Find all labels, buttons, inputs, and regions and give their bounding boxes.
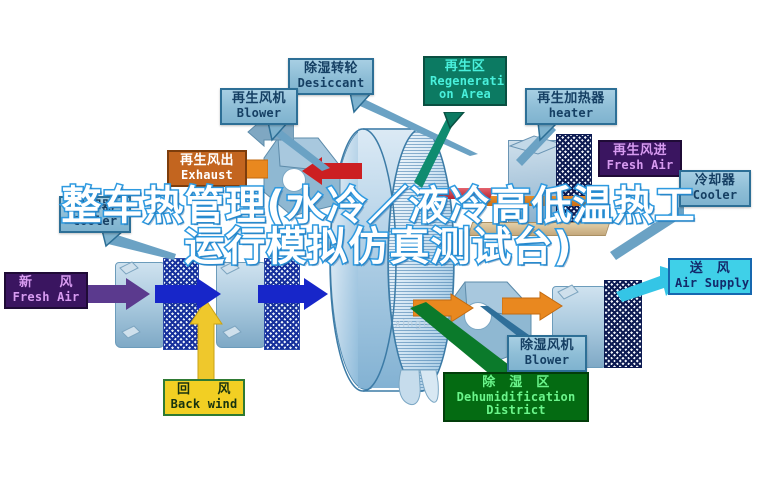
label-air-supply-en: Air Supply xyxy=(675,277,745,290)
label-regen-heater-tail xyxy=(534,122,562,142)
label-fresh-air-in[interactable]: 新 风 Fresh Air xyxy=(4,272,88,309)
label-fresh-air-in-en: Fresh Air xyxy=(11,291,81,304)
label-regen-fresh-in[interactable]: 再生风进 Fresh Air xyxy=(598,140,682,177)
label-back-wind[interactable]: 回 风 Back wind xyxy=(163,379,245,416)
label-dehum-district-cn: 除 湿 区 xyxy=(450,376,582,391)
label-regen-blower-tail xyxy=(266,122,294,142)
label-desiccant-rotor-en: Desiccant xyxy=(295,77,367,90)
label-regen-fresh-in-cn: 再生风进 xyxy=(605,144,675,159)
label-dehum-district-en1: Dehumidification xyxy=(450,391,582,404)
label-cooler-left[interactable]: 冷却器 Cooler xyxy=(59,196,131,233)
label-regen-area-en1: Regenerati xyxy=(430,75,500,88)
label-dehum-blower-en: Blower xyxy=(514,354,580,367)
label-regen-exhaust-cn: 再生风出 xyxy=(174,154,240,169)
label-dehum-blower-cn: 除湿风机 xyxy=(514,339,580,354)
label-regen-blower-cn: 再生风机 xyxy=(227,92,291,107)
label-regen-heater-en: heater xyxy=(532,107,610,120)
label-desiccant-rotor-tail xyxy=(348,92,378,114)
heater-base-plate xyxy=(468,222,611,236)
label-dehum-district[interactable]: 除 湿 区 Dehumidification District xyxy=(443,372,589,422)
label-regen-area-cn: 再生区 xyxy=(430,60,500,75)
label-regen-blower-en: Blower xyxy=(227,107,291,120)
label-back-wind-cn: 回 风 xyxy=(170,383,238,398)
label-regen-area[interactable]: 再生区 Regenerati on Area xyxy=(423,56,507,106)
label-regen-area-en2: on Area xyxy=(430,88,500,101)
label-desiccant-rotor[interactable]: 除湿转轮 Desiccant xyxy=(288,58,374,95)
regen-duct-bar xyxy=(480,196,604,206)
label-air-supply[interactable]: 送 风 Air Supply xyxy=(668,258,752,295)
label-cooler-left-cn: 冷却器 xyxy=(66,200,124,215)
label-regen-blower[interactable]: 再生风机 Blower xyxy=(220,88,298,125)
label-regen-fresh-in-en: Fresh Air xyxy=(605,159,675,172)
diagram-canvas: xinguan xyxy=(0,0,757,488)
label-cooler-right[interactable]: 冷却器 Cooler xyxy=(679,170,751,207)
label-air-supply-cn: 送 风 xyxy=(675,262,745,277)
process-air-arrow-2 xyxy=(258,276,330,312)
label-desiccant-rotor-cn: 除湿转轮 xyxy=(295,62,367,77)
label-regen-area-tail xyxy=(442,112,468,130)
label-regen-heater-cn: 再生加热器 xyxy=(532,92,610,107)
label-cooler-left-en: Cooler xyxy=(66,215,124,228)
label-dehum-blower[interactable]: 除湿风机 Blower xyxy=(507,335,587,372)
fresh-air-inlet-arrow xyxy=(84,276,152,312)
label-cooler-right-cn: 冷却器 xyxy=(686,174,744,189)
label-fresh-air-in-cn: 新 风 xyxy=(11,276,81,291)
label-regen-exhaust-en: Exhaust xyxy=(174,169,240,182)
label-cooler-right-leader xyxy=(610,204,684,262)
regen-heater-mesh xyxy=(556,134,592,222)
label-back-wind-en: Back wind xyxy=(170,398,238,411)
label-regen-heater[interactable]: 再生加热器 heater xyxy=(525,88,617,125)
label-dehum-district-en2: District xyxy=(450,404,582,417)
label-cooler-right-en: Cooler xyxy=(686,189,744,202)
label-regen-exhaust[interactable]: 再生风出 Exhaust xyxy=(167,150,247,187)
process-air-arrow-1 xyxy=(155,276,223,312)
